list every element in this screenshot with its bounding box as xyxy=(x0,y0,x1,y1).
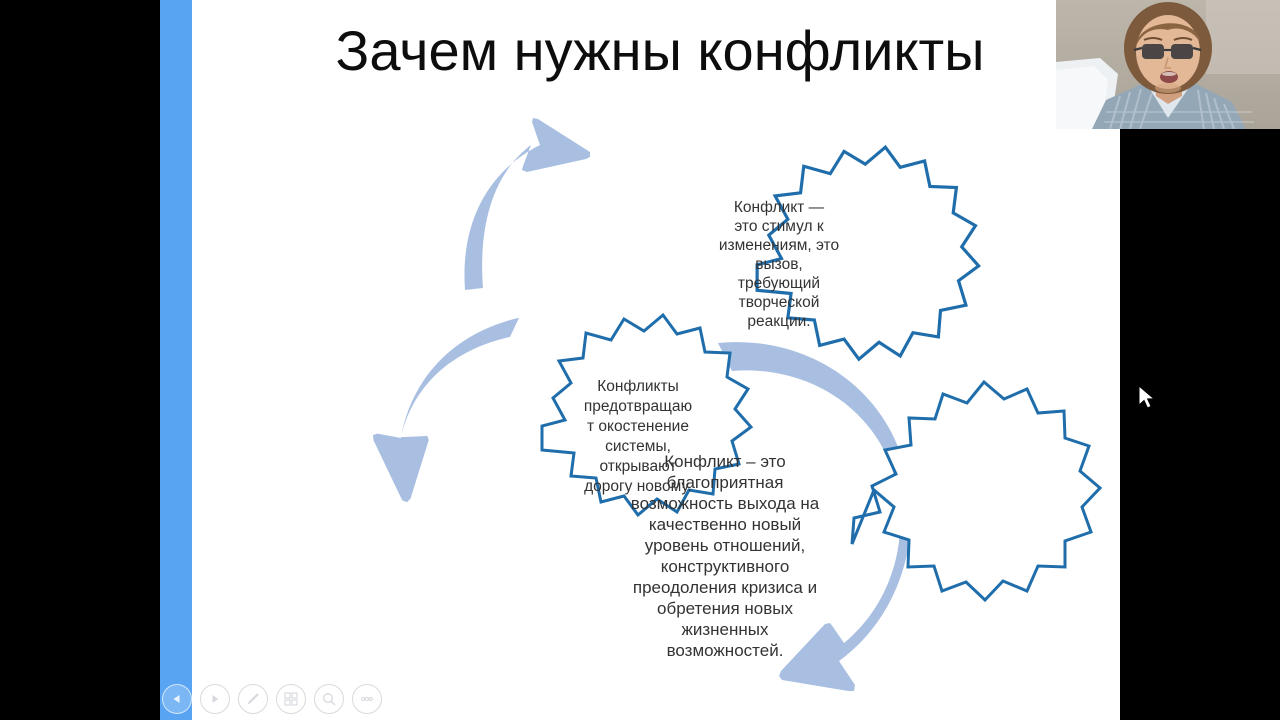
svg-text:конструктивного: конструктивного xyxy=(661,557,790,576)
svg-text:Конфликт —: Конфликт — xyxy=(734,199,825,216)
svg-text:преодоления кризиса и: преодоления кризиса и xyxy=(633,578,817,597)
arrow-up-right-icon xyxy=(464,118,590,290)
svg-text:жизненных: жизненных xyxy=(681,620,769,639)
pen-icon xyxy=(244,690,262,708)
svg-text:Конфликты: Конфликты xyxy=(597,378,679,395)
ellipsis-icon xyxy=(358,690,376,708)
zoom-tool-button[interactable] xyxy=(314,684,344,714)
svg-text:обретения новых: обретения новых xyxy=(657,599,793,618)
arrow-down-left-icon xyxy=(366,304,519,512)
svg-text:системы,: системы, xyxy=(605,438,671,455)
svg-text:т окостенение: т окостенение xyxy=(587,418,689,435)
pen-tool-button[interactable] xyxy=(238,684,268,714)
svg-text:реакции.: реакции. xyxy=(747,313,810,330)
svg-text:Конфликт – это: Конфликт – это xyxy=(664,452,785,471)
svg-text:это стимул к: это стимул к xyxy=(734,218,824,235)
magnifier-icon xyxy=(321,691,337,707)
video-chin-shadow xyxy=(1155,83,1181,93)
svg-text:вызов,: вызов, xyxy=(755,256,802,273)
video-teeth xyxy=(1162,72,1176,76)
triangle-left-icon xyxy=(170,692,184,706)
more-options-button[interactable] xyxy=(352,684,382,714)
svg-text:качественно новый: качественно новый xyxy=(649,515,801,534)
presenter-video-frame xyxy=(1056,0,1280,129)
presenter-video[interactable] xyxy=(1056,0,1280,129)
slide-canvas: Зачем нужны конфликты xyxy=(160,0,1120,720)
presentation-screen: Зачем нужны конфликты xyxy=(0,0,1280,720)
svg-text:уровень отношений,: уровень отношений, xyxy=(645,536,805,555)
gear-diagram: Конфликт — это стимул к изменениям, это … xyxy=(160,0,1120,720)
slideshow-toolbar xyxy=(162,684,382,714)
svg-text:изменениям, это: изменениям, это xyxy=(719,237,839,254)
video-wall-patch xyxy=(1206,0,1280,74)
gear-bottom-right xyxy=(852,382,1100,600)
previous-slide-button[interactable] xyxy=(162,684,192,714)
svg-text:благоприятная: благоприятная xyxy=(667,473,784,492)
play-slide-button[interactable] xyxy=(200,684,230,714)
svg-text:возможностей.: возможностей. xyxy=(667,641,784,660)
triangle-right-icon xyxy=(208,692,222,706)
svg-text:творческой: творческой xyxy=(739,294,820,311)
slide-grid-button[interactable] xyxy=(276,684,306,714)
svg-text:предотвращаю: предотвращаю xyxy=(584,398,692,415)
grid-icon xyxy=(283,691,299,707)
svg-text:возможность выхода на: возможность выхода на xyxy=(631,494,820,513)
svg-text:требующий: требующий xyxy=(738,275,820,292)
mouse-cursor-icon xyxy=(1138,385,1158,413)
